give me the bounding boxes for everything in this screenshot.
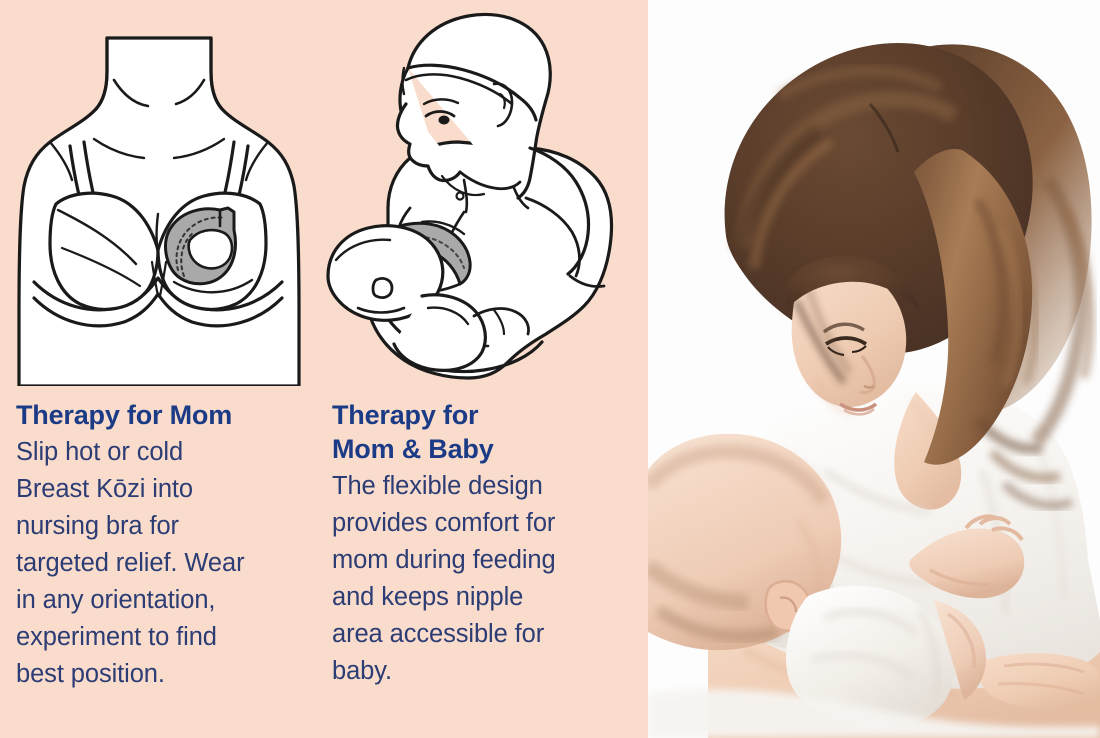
therapy-for-mom-heading: Therapy for Mom xyxy=(16,398,308,432)
column-therapy-for-mom: Therapy for Mom Slip hot or cold Breast … xyxy=(0,398,318,693)
column-therapy-for-mom-and-baby: Therapy for Mom & Baby The flexible desi… xyxy=(318,398,648,690)
therapy-for-mom-body: Slip hot or cold Breast Kōzi into nursin… xyxy=(16,434,308,693)
torso-in-nursing-bra-with-pad-illustration xyxy=(6,14,312,386)
mother-breastfeeding-baby-photo xyxy=(648,0,1100,738)
therapy-for-mom-and-baby-heading: Therapy for Mom & Baby xyxy=(332,398,636,466)
infographic-page: Therapy for Mom Slip hot or cold Breast … xyxy=(0,0,1100,738)
feature-text-row: Therapy for Mom Slip hot or cold Breast … xyxy=(0,398,648,738)
therapy-for-mom-and-baby-body: The flexible design provides comfort for… xyxy=(332,468,636,690)
mother-nursing-baby-with-pad-illustration xyxy=(318,8,634,388)
left-info-panel: Therapy for Mom Slip hot or cold Breast … xyxy=(0,0,648,738)
